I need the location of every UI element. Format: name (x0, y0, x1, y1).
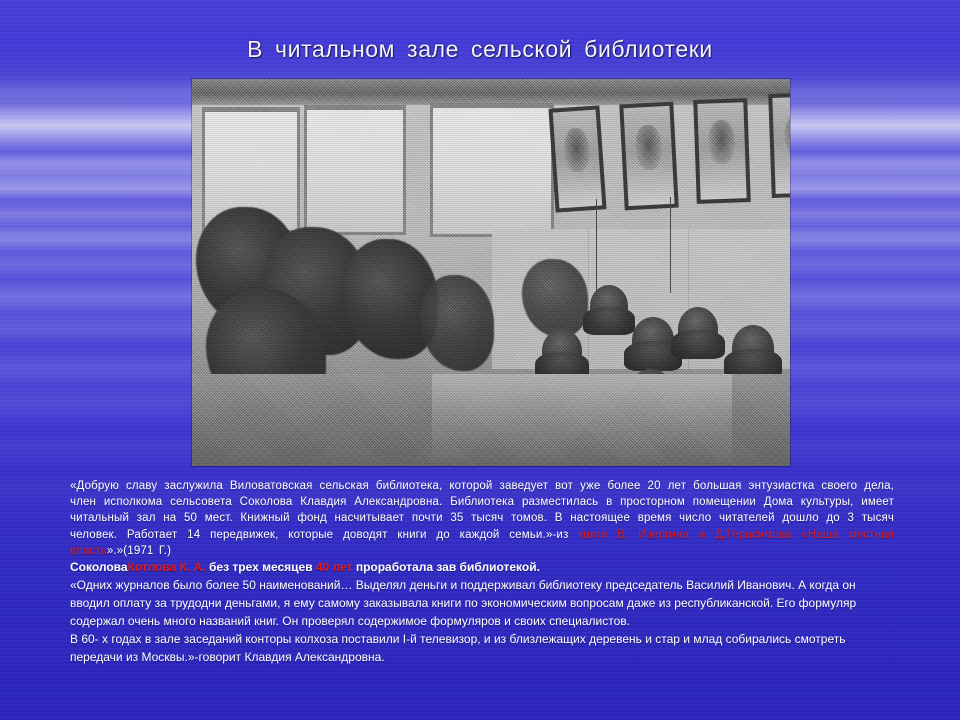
sokolova-middle-text: без трех месяцев (206, 560, 316, 574)
photo-portrait-frame (768, 92, 790, 198)
sokolova-alt-name-highlight: Котлова К. А. (128, 560, 206, 574)
photo-floor-highlight (432, 374, 732, 466)
paragraph-journals: «Одних журналов было более 50 наименован… (70, 576, 894, 630)
paragraph-sixties: В 60- х годах в зале заседаний конторы к… (70, 630, 894, 666)
photo-person (542, 329, 582, 373)
photo-person (632, 317, 674, 363)
sokolova-years-highlight: 40 лет (316, 560, 353, 574)
photo-portrait-frame (693, 98, 751, 204)
sokolova-tail-text: проработала зав библиотекой. (352, 560, 539, 574)
quote-text-part2: ».»(1971 Г.) (107, 545, 171, 557)
photo-window-3 (430, 103, 554, 237)
photo-window-2 (304, 105, 406, 235)
photo-person (732, 325, 774, 371)
paragraph-quote: «Добрую славу заслужила Виловатовская се… (70, 478, 894, 559)
slide-canvas: В читальном зале сельской библиотеки (0, 0, 960, 720)
photo-wall-seam (588, 229, 589, 369)
photo-person (590, 285, 628, 327)
slide-body-text: «Добрую славу заслужила Виловатовская се… (70, 478, 894, 666)
library-photograph (192, 79, 790, 466)
paragraph-sokolova: СоколоваКотлова К. А. без трех месяцев 4… (70, 559, 894, 576)
photo-portrait-frame (548, 105, 606, 212)
sokolova-surname: Соколова (70, 560, 128, 574)
photo-hanging-cord (670, 197, 671, 293)
photo-hanging-cord (596, 199, 597, 297)
photo-person (678, 307, 718, 351)
page-title: В читальном зале сельской библиотеки (0, 36, 960, 63)
photo-portrait-frame (619, 102, 678, 211)
